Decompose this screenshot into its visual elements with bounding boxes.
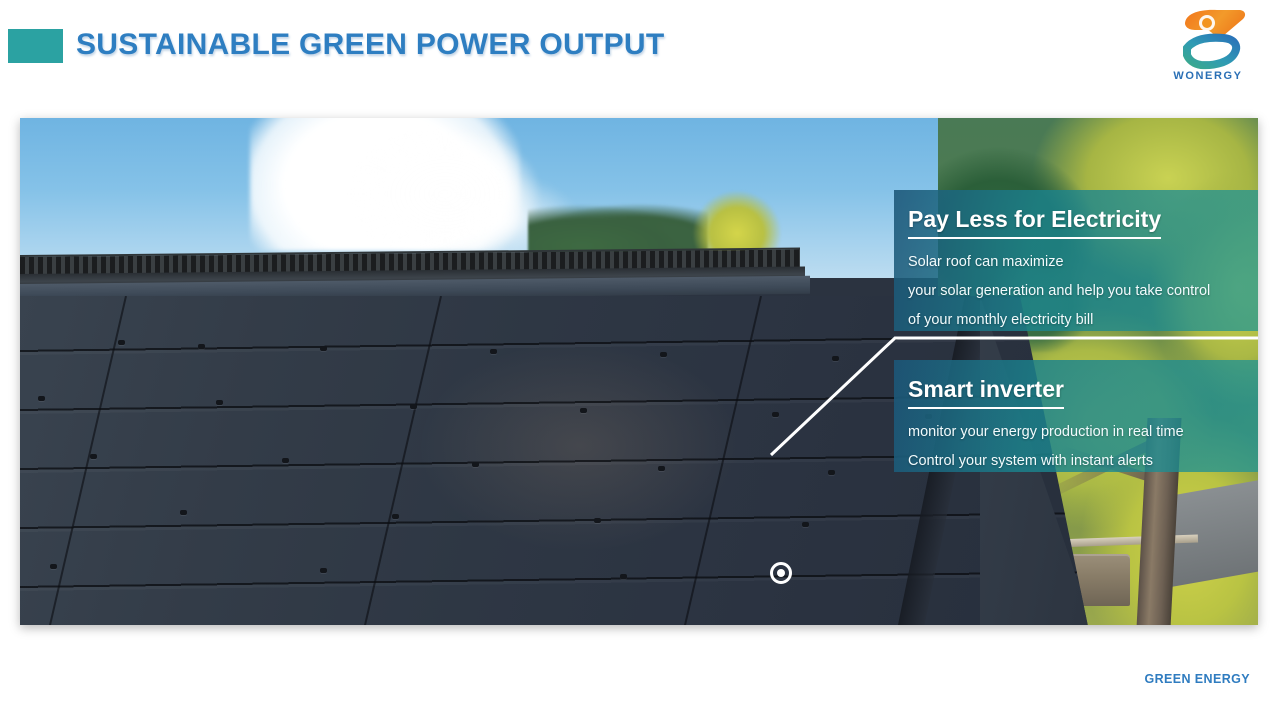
shingle-clip (490, 349, 497, 354)
shingle-clip (410, 404, 417, 409)
shingle-clip (50, 564, 57, 569)
shingle-clip (392, 514, 399, 519)
shingle-clip (118, 340, 125, 345)
callout-pay-less-for-electricity[interactable]: Pay Less for Electricity Solar roof can … (894, 190, 1258, 331)
roof-hotspot-marker[interactable] (770, 562, 792, 584)
shingle-clip (198, 344, 205, 349)
shingle-clip (772, 412, 779, 417)
shingle-clip (216, 400, 223, 405)
shingle-clip (660, 352, 667, 357)
callout-title: Pay Less for Electricity (908, 204, 1161, 239)
shingle-clip (658, 466, 665, 471)
callout-line: your solar generation and help you take … (908, 277, 1258, 306)
solar-roof-photo: Pay Less for Electricity Solar roof can … (20, 118, 1258, 625)
callout-line: Solar roof can maximize (908, 248, 1258, 277)
slide-header: SUSTAINABLE GREEN POWER OUTPUT (0, 0, 1277, 100)
logo-wordmark: WONERGY (1149, 70, 1267, 82)
shingle-clip (320, 568, 327, 573)
shingle-clip (832, 356, 839, 361)
callout-body: Solar roof can maximize your solar gener… (908, 248, 1258, 335)
callout-smart-inverter[interactable]: Smart inverter monitor your energy produ… (894, 360, 1258, 472)
footer-note: GREEN ENERGY (1144, 672, 1250, 686)
title-accent-square (8, 29, 63, 63)
wonergy-mark-icon (1177, 8, 1249, 70)
shingle-clip (38, 396, 45, 401)
slide-root: SUSTAINABLE GREEN POWER OUTPUT (0, 0, 1277, 714)
page-title: SUSTAINABLE GREEN POWER OUTPUT (76, 28, 664, 62)
shingle-clip (90, 454, 97, 459)
shingle-clip (802, 522, 809, 527)
callout-title: Smart inverter (908, 374, 1064, 409)
callout-body: monitor your energy production in real t… (908, 418, 1258, 476)
brand-logo: WONERGY (1149, 8, 1267, 94)
callout-line: monitor your energy production in real t… (908, 418, 1258, 447)
shingle-clip (472, 462, 479, 467)
shingle-clip (320, 346, 327, 351)
callout-line: Control your system with instant alerts (908, 447, 1258, 476)
shingle-clip (594, 518, 601, 523)
shingle-clip (282, 458, 289, 463)
hero-image-frame: Pay Less for Electricity Solar roof can … (20, 118, 1258, 625)
shingle-clip (828, 470, 835, 475)
shingle-clip (620, 574, 627, 579)
callout-line: of your monthly electricity bill (908, 306, 1258, 335)
shingle-clip (180, 510, 187, 515)
shingle-clip (580, 408, 587, 413)
